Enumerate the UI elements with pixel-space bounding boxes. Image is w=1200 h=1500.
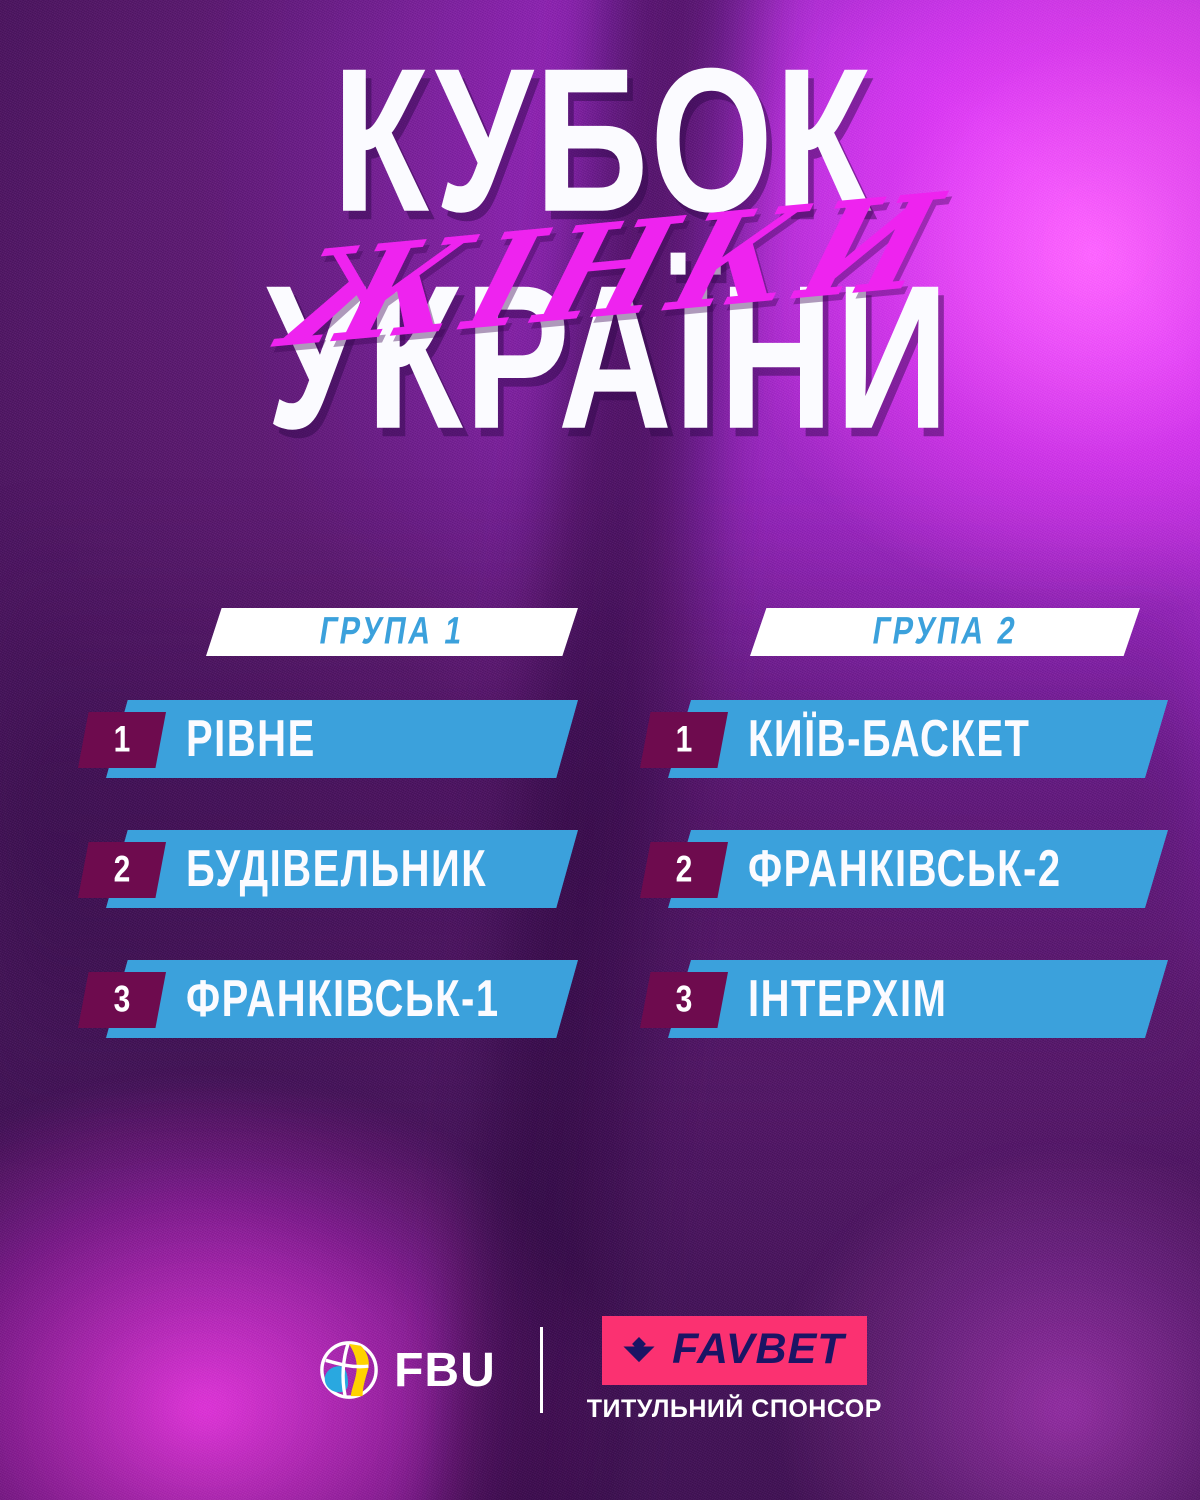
- team-row[interactable]: 2 БУДІВЕЛЬНИК: [78, 830, 578, 908]
- team-rank-badge: 2: [78, 842, 166, 898]
- team-row[interactable]: 1 РІВНЕ: [78, 700, 578, 778]
- team-name: БУДІВЕЛЬНИК: [186, 818, 487, 919]
- group-1-header-label: ГРУПА 1: [316, 610, 467, 654]
- team-rank-value: 1: [114, 719, 131, 762]
- team-row[interactable]: 1 КИЇВ-БАСКЕТ: [640, 700, 1140, 778]
- title-line-kubok: КУБОК: [36, 46, 1164, 235]
- team-name: КИЇВ-БАСКЕТ: [748, 688, 1030, 789]
- group-2-header-label: ГРУПА 2: [869, 610, 1020, 654]
- sponsor-caption: ТИТУЛЬНИЙ СПОНСОР: [587, 1395, 882, 1424]
- team-rank-badge: 3: [78, 972, 166, 1028]
- fbu-logo[interactable]: FBU: [318, 1339, 540, 1401]
- team-row[interactable]: 3 ІНТЕРХІМ: [640, 960, 1140, 1038]
- title-sponsor-block[interactable]: FAVBET ТИТУЛЬНИЙ СПОНСОР: [543, 1316, 882, 1424]
- basketball-icon: [318, 1339, 380, 1401]
- favbet-diamond-icon: [620, 1337, 658, 1363]
- team-rank-value: 3: [676, 979, 693, 1022]
- title-line-ukrainy: УКРАЇНИ: [36, 263, 1164, 452]
- favbet-logo-text: FAVBET: [672, 1325, 844, 1374]
- group-2-team-list: 1 КИЇВ-БАСКЕТ 2 ФРАНКІВСЬК-2: [640, 700, 1140, 1038]
- team-row[interactable]: 3 ФРАНКІВСЬК-1: [78, 960, 578, 1038]
- fbu-logo-text: FBU: [394, 1343, 496, 1398]
- poster-footer: FBU FAVBET ТИТУЛЬНИЙ СПОНСОР: [0, 1316, 1200, 1424]
- group-2-header: ГРУПА 2: [750, 608, 1140, 656]
- team-name: ФРАНКІВСЬК-2: [748, 818, 1062, 919]
- group-1: ГРУПА 1 1 РІВНЕ 2: [78, 608, 578, 1090]
- team-rank-badge: 1: [78, 712, 166, 768]
- favbet-logo[interactable]: FAVBET: [602, 1316, 866, 1385]
- group-2: ГРУПА 2 1 КИЇВ-БАСКЕТ 2: [640, 608, 1140, 1090]
- poster-title: КУБОК УКРАЇНИ ЖІНКИ: [0, 46, 1200, 417]
- group-1-header: ГРУПА 1: [206, 608, 578, 656]
- team-name: ФРАНКІВСЬК-1: [186, 948, 500, 1049]
- group-1-team-list: 1 РІВНЕ 2 БУДІВЕЛЬНИК 3: [78, 700, 578, 1038]
- team-rank-badge: 3: [640, 972, 728, 1028]
- team-rank-value: 2: [676, 849, 693, 892]
- team-rank-value: 3: [114, 979, 131, 1022]
- team-name: ІНТЕРХІМ: [748, 948, 947, 1049]
- team-bar: [106, 700, 578, 778]
- team-rank-badge: 1: [640, 712, 728, 768]
- team-rank-badge: 2: [640, 842, 728, 898]
- team-name: РІВНЕ: [186, 688, 316, 789]
- tournament-poster: КУБОК УКРАЇНИ ЖІНКИ ГРУПА 1 1 РІВНЕ: [0, 0, 1200, 1500]
- team-rank-value: 2: [114, 849, 131, 892]
- team-row[interactable]: 2 ФРАНКІВСЬК-2: [640, 830, 1140, 908]
- team-rank-value: 1: [676, 719, 693, 762]
